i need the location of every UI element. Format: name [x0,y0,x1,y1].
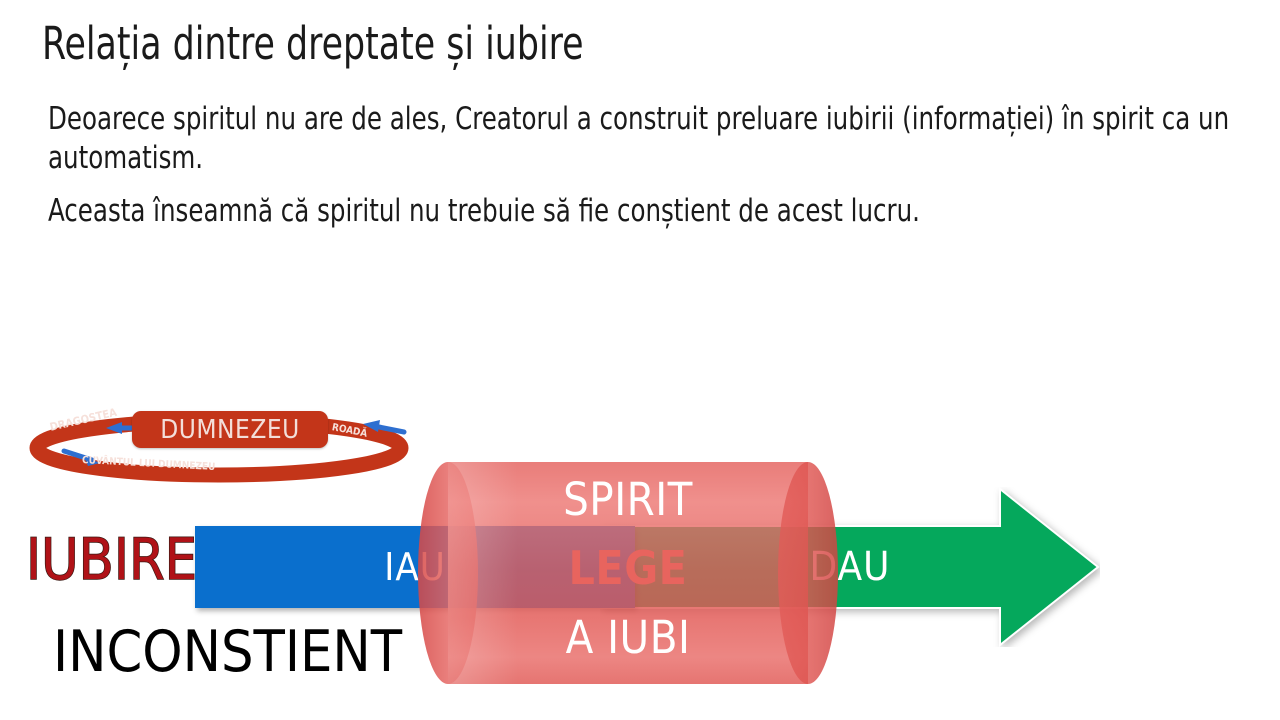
dau-label: DAU [810,546,891,588]
caption-iubire: IUBIRE [26,530,197,590]
body-text-block: Deoarece spiritul nu are de ales, Creato… [48,100,1238,245]
caption-inconstient: INCONSTIENT [53,622,402,682]
page-title: Relația dintre dreptate și iubire [42,17,584,71]
slide-canvas: Relația dintre dreptate și iubire Deoare… [0,0,1280,720]
dumnezeu-label: DUMNEZEU [132,416,328,444]
body-paragraph-1: Deoarece spiritul nu are de ales, Creato… [48,100,1231,178]
dumnezeu-cycle-graphic: DUMNEZEU DRAGOSTEA ROADĂ CUVÂNTUL LUI DU… [22,408,422,486]
dumnezeu-box: DUMNEZEU [132,411,328,448]
iau-label: IAU [195,547,635,587]
flow-diagram: DUMNEZEU DRAGOSTEA ROADĂ CUVÂNTUL LUI DU… [0,390,1280,720]
iau-bar: IAU [195,526,635,608]
dau-arrow: DAU [600,487,1100,647]
body-paragraph-2: Aceasta înseamnă că spiritul nu trebuie … [48,192,1231,231]
